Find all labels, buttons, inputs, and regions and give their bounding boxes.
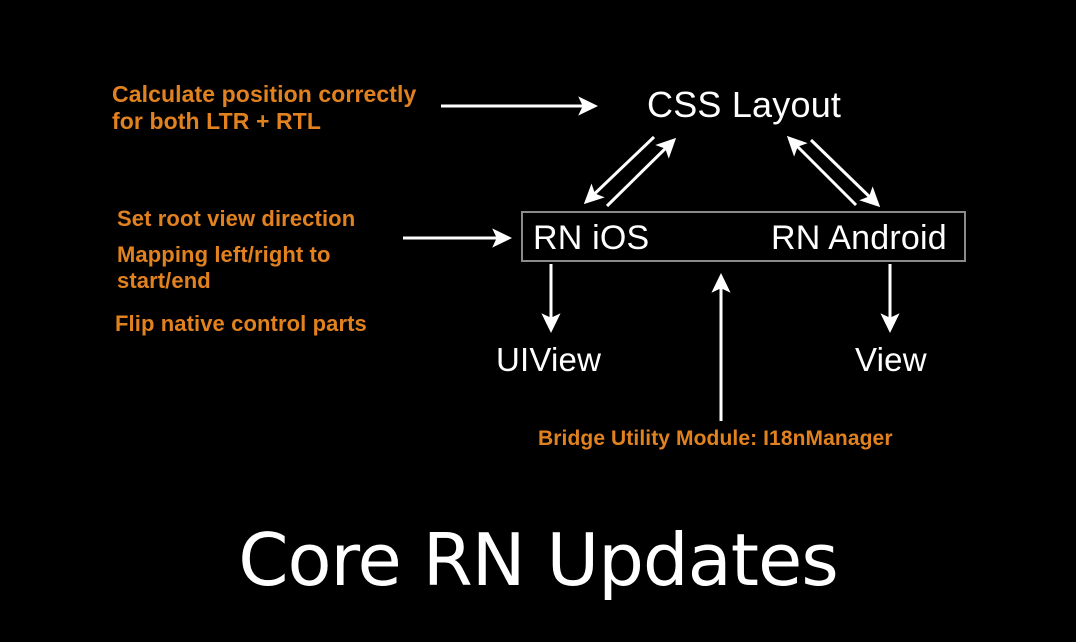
annotation-calculate-position: Calculate position correctlyfor both LTR…: [112, 81, 416, 135]
annotation-line-1: Calculate position correctly: [112, 81, 416, 107]
arrow-rn-android-to-css-layout: [789, 138, 856, 205]
annotation-set-root-view-direction: Set root view direction: [117, 206, 355, 232]
node-uiview: UIView: [496, 341, 601, 380]
node-rn-android: RN Android: [771, 218, 947, 258]
slide-title: Core RN Updates: [0, 518, 1076, 602]
arrow-css-layout-to-rn-ios: [586, 137, 654, 202]
annotation-flip-native-controls: Flip native control parts: [115, 311, 367, 337]
annotation-mapping-left-right: Mapping left/right tostart/end: [117, 242, 331, 294]
arrow-css-layout-to-rn-android: [811, 140, 878, 205]
node-rn-ios: RN iOS: [533, 218, 649, 258]
slide-canvas: Calculate position correctlyfor both LTR…: [0, 0, 1076, 642]
annotation-mapping-line-1: Mapping left/right to: [117, 242, 331, 267]
annotation-bridge-utility-module: Bridge Utility Module: I18nManager: [538, 427, 893, 452]
annotation-line-2: for both LTR + RTL: [112, 108, 321, 134]
arrow-rn-ios-to-css-layout: [607, 140, 674, 206]
annotation-mapping-line-2: start/end: [117, 268, 211, 293]
node-view: View: [855, 341, 927, 380]
node-css-layout: CSS Layout: [647, 84, 841, 126]
